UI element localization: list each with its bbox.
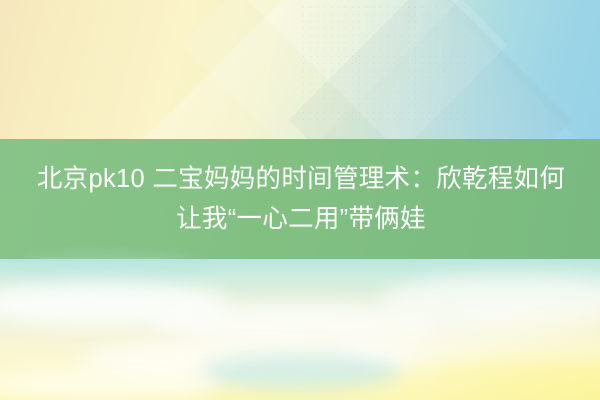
cloud-icon <box>0 281 230 327</box>
cloud-icon <box>0 367 220 400</box>
header-gradient-zone <box>0 0 600 139</box>
cloud-icon <box>330 329 600 369</box>
diagonal-stripe-icon <box>0 0 600 139</box>
cloud-icon <box>80 337 410 381</box>
cloud-icon <box>20 259 200 285</box>
cloud-icon <box>440 307 600 337</box>
cloud-icon <box>150 303 450 343</box>
title-band: 北京pk10 二宝妈妈的时间管理术：欣乾程如何 让我“一心二用”带俩娃 <box>0 139 600 259</box>
cloud-icon <box>380 275 600 325</box>
cloud-icon <box>430 359 600 393</box>
diagonal-stripe-secondary-icon <box>0 0 600 139</box>
dot-texture-icon <box>300 4 470 124</box>
banner-title-line-2: 让我“一心二用”带俩娃 <box>174 199 426 239</box>
promo-banner: 北京pk10 二宝妈妈的时间管理术：欣乾程如何 让我“一心二用”带俩娃 <box>0 0 600 400</box>
footer-cloud-zone <box>0 259 600 400</box>
banner-title-line-1: 北京pk10 二宝妈妈的时间管理术：欣乾程如何 <box>35 159 565 199</box>
cloud-icon <box>200 355 400 389</box>
